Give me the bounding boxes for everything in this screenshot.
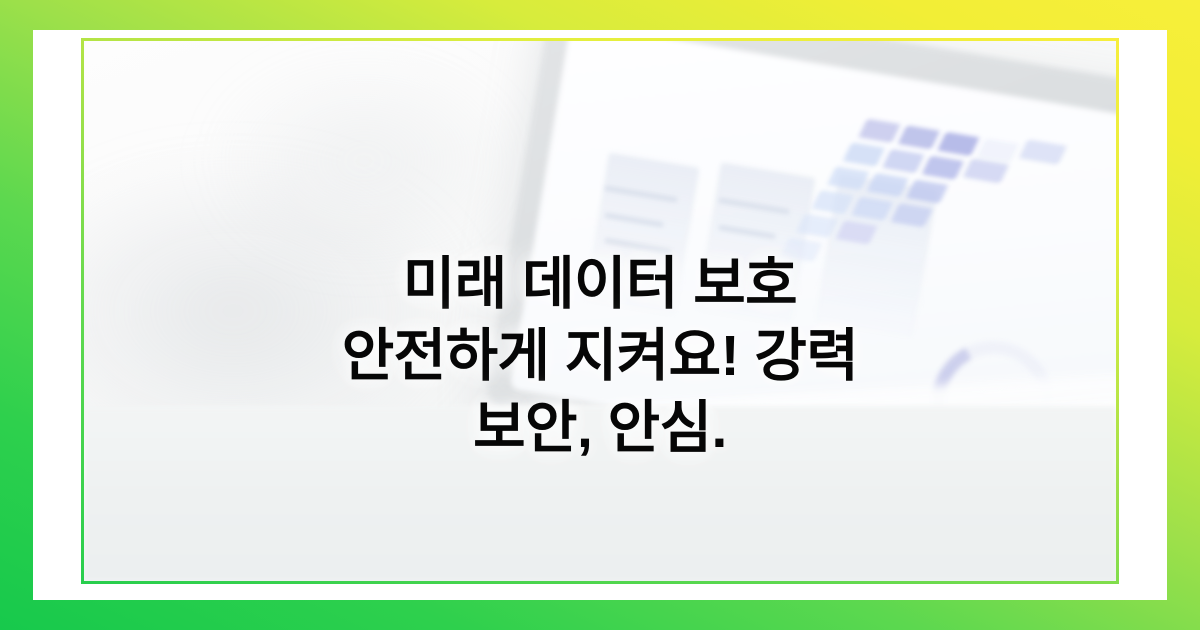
grid-cell bbox=[922, 156, 964, 180]
grid-cell bbox=[890, 203, 932, 227]
poster-frame: 미래 데이터 보호 안전하게 지켜요! 강력 보안, 안심. bbox=[0, 0, 1200, 630]
grid-cell bbox=[898, 125, 940, 149]
grid-cell bbox=[835, 220, 877, 244]
grid-cell bbox=[937, 132, 979, 156]
grid-cell bbox=[866, 173, 908, 197]
grid-cell bbox=[827, 166, 869, 190]
poster-inner-border: 미래 데이터 보호 안전하게 지켜요! 강력 보안, 안심. bbox=[81, 38, 1119, 584]
grid-cell bbox=[977, 138, 1019, 162]
grid-cell bbox=[963, 158, 1009, 183]
grid-cell bbox=[906, 179, 948, 203]
wall-blur-top bbox=[204, 51, 524, 271]
grid-cell bbox=[851, 196, 893, 220]
page-title: 미래 데이터 보호 안전하게 지켜요! 강력 보안, 안심. bbox=[84, 248, 1116, 464]
grid-cell bbox=[858, 119, 900, 143]
grid-cell bbox=[843, 142, 885, 166]
grid-cell bbox=[882, 149, 924, 173]
